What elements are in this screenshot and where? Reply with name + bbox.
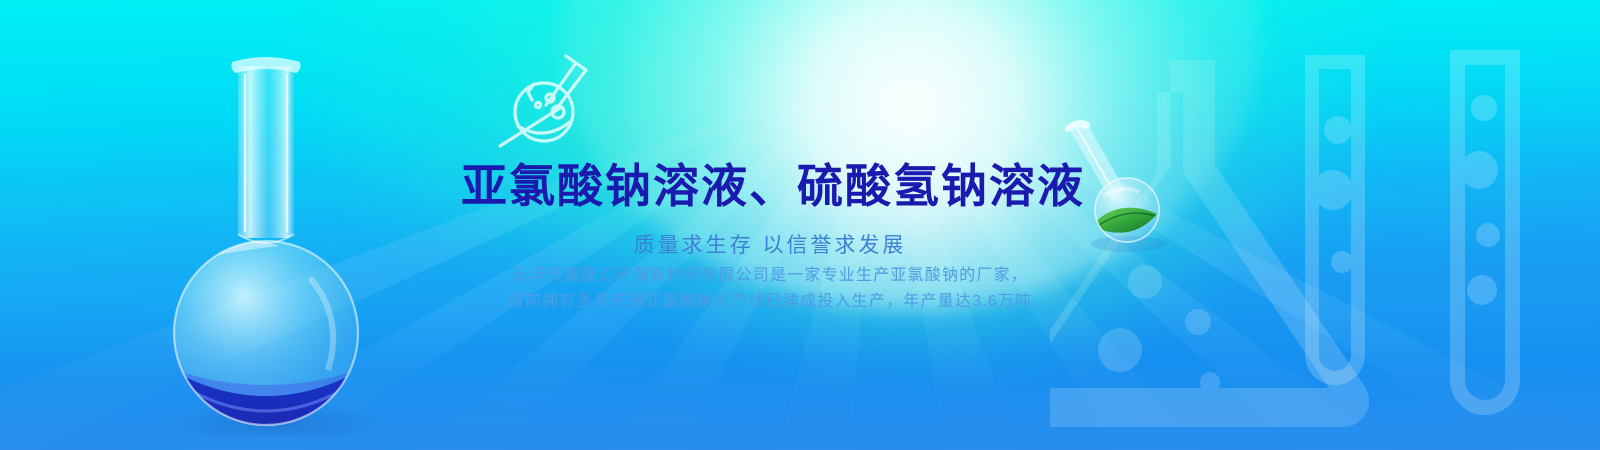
flask-neck bbox=[238, 66, 294, 238]
bubble-icon bbox=[1476, 223, 1500, 247]
bubble-icon bbox=[1467, 275, 1497, 305]
bubble-icon bbox=[1471, 95, 1497, 121]
tilted-flask-leaf-photo bbox=[1055, 118, 1175, 253]
floor-sheen bbox=[0, 360, 1600, 450]
line-art-flask-icon bbox=[488, 50, 598, 155]
bubble-icon bbox=[1460, 151, 1498, 189]
bubble-icon bbox=[1313, 170, 1353, 210]
bubble-icon bbox=[1185, 309, 1211, 335]
bubble-icon bbox=[1331, 251, 1353, 273]
promo-banner: 亚氯酸钠溶液、硫酸氢钠溶液 质量求生存 以信誉求发展 云浮市鑫隆汇环保新材料有限… bbox=[0, 0, 1600, 450]
